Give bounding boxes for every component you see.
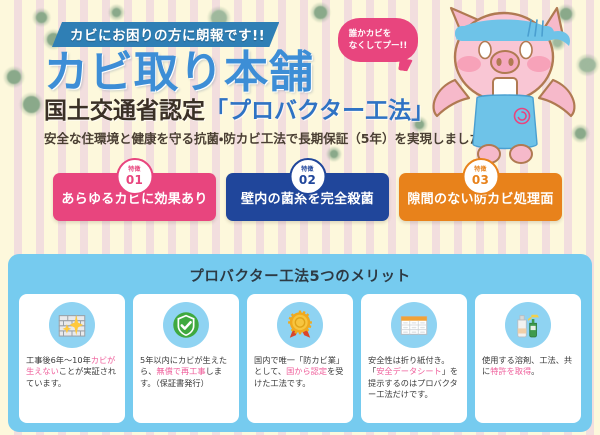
merit-card-text: 工事後6年〜10年カビが生えないことが実証されています。 <box>26 355 118 389</box>
mold-spore-decoration <box>7 70 21 84</box>
merit-card[interactable]: 使用する溶剤、工法、共に特許を取得。 <box>475 294 581 423</box>
merit-card-text: 使用する溶剤、工法、共に特許を取得。 <box>482 355 574 378</box>
mold-spore-decoration <box>314 6 327 19</box>
pig-mascot <box>425 2 585 170</box>
feature-badge-01: 特徴 01 <box>116 158 153 195</box>
mascot-speech-bubble: 誰かカビを なくしてプー!! <box>338 18 418 62</box>
merit-card[interactable]: 安全性は折り紙付き。「安全データシート」を提示するのはプロバクター工法だけです。 <box>361 294 467 423</box>
mold-spore-decoration <box>112 8 121 17</box>
feature-card-01[interactable]: 特徴 01 あらゆるカビに効果あり <box>53 173 216 221</box>
brick-wall-sparkle-icon <box>49 302 95 348</box>
spray-bottle-detergent-icon <box>505 302 551 348</box>
mold-spore-decoration <box>36 12 47 23</box>
mold-spore-decoration <box>23 96 40 113</box>
feature-badge-03: 特徴 03 <box>462 158 499 195</box>
page-title: カビ取り本舗 <box>44 50 314 96</box>
merit-card[interactable]: 5年以内にカビが生えたら、無償で再工事します。（保証書発行） <box>133 294 239 423</box>
merit-card-text: 5年以内にカビが生えたら、無償で再工事します。（保証書発行） <box>140 355 232 389</box>
mascot-speech-text: 誰かカビを なくしてプー!! <box>349 28 408 52</box>
feature-badge-02: 特徴 02 <box>289 158 326 195</box>
merit-card[interactable]: 国内で唯一「防カビ業」として、国から認定を受けた工法です。 <box>247 294 353 423</box>
page-background: カビにお困りの方に朗報です!! カビ取り本舗 国土交通省認定「プロバクター工法」… <box>0 0 600 435</box>
subtitle-certification: 国土交通省認定 <box>44 98 205 124</box>
feature-badge-number: 01 <box>126 174 143 186</box>
subtitle: 国土交通省認定「プロバクター工法」 <box>44 99 434 124</box>
merit-card-list: 工事後6年〜10年カビが生えないことが実証されています。 5年以内にカビが生えた… <box>19 294 581 423</box>
gold-medal-ribbon-icon <box>277 302 323 348</box>
feature-badge-number: 02 <box>299 174 316 186</box>
feature-card-02[interactable]: 特徴 02 壁内の菌糸を完全殺菌 <box>226 173 389 221</box>
announcement-ribbon: カビにお困りの方に朗報です!! <box>52 22 279 47</box>
pig-mascot-icon <box>425 2 585 170</box>
merits-panel: プロバクター工法5つのメリット <box>8 254 592 432</box>
mold-spore-decoration <box>330 150 338 158</box>
speech-bubble-tail <box>398 58 413 72</box>
subtitle-method-name: 「プロバクター工法」 <box>205 98 434 124</box>
merit-card[interactable]: 工事後6年〜10年カビが生えないことが実証されています。 <box>19 294 125 423</box>
merits-panel-title: プロバクター工法5つのメリット <box>8 265 592 286</box>
announcement-ribbon-label: カビにお困りの方に朗報です!! <box>70 24 265 44</box>
merit-card-text: 国内で唯一「防カビ業」として、国から認定を受けた工法です。 <box>254 355 346 389</box>
green-shield-check-icon <box>163 302 209 348</box>
feature-badge-number: 03 <box>472 174 489 186</box>
merit-card-text: 安全性は折り紙付き。「安全データシート」を提示するのはプロバクター工法だけです。 <box>368 355 460 401</box>
feature-card-03[interactable]: 特徴 03 隙間のない防カビ処理面 <box>399 173 562 221</box>
data-sheet-table-icon <box>391 302 437 348</box>
